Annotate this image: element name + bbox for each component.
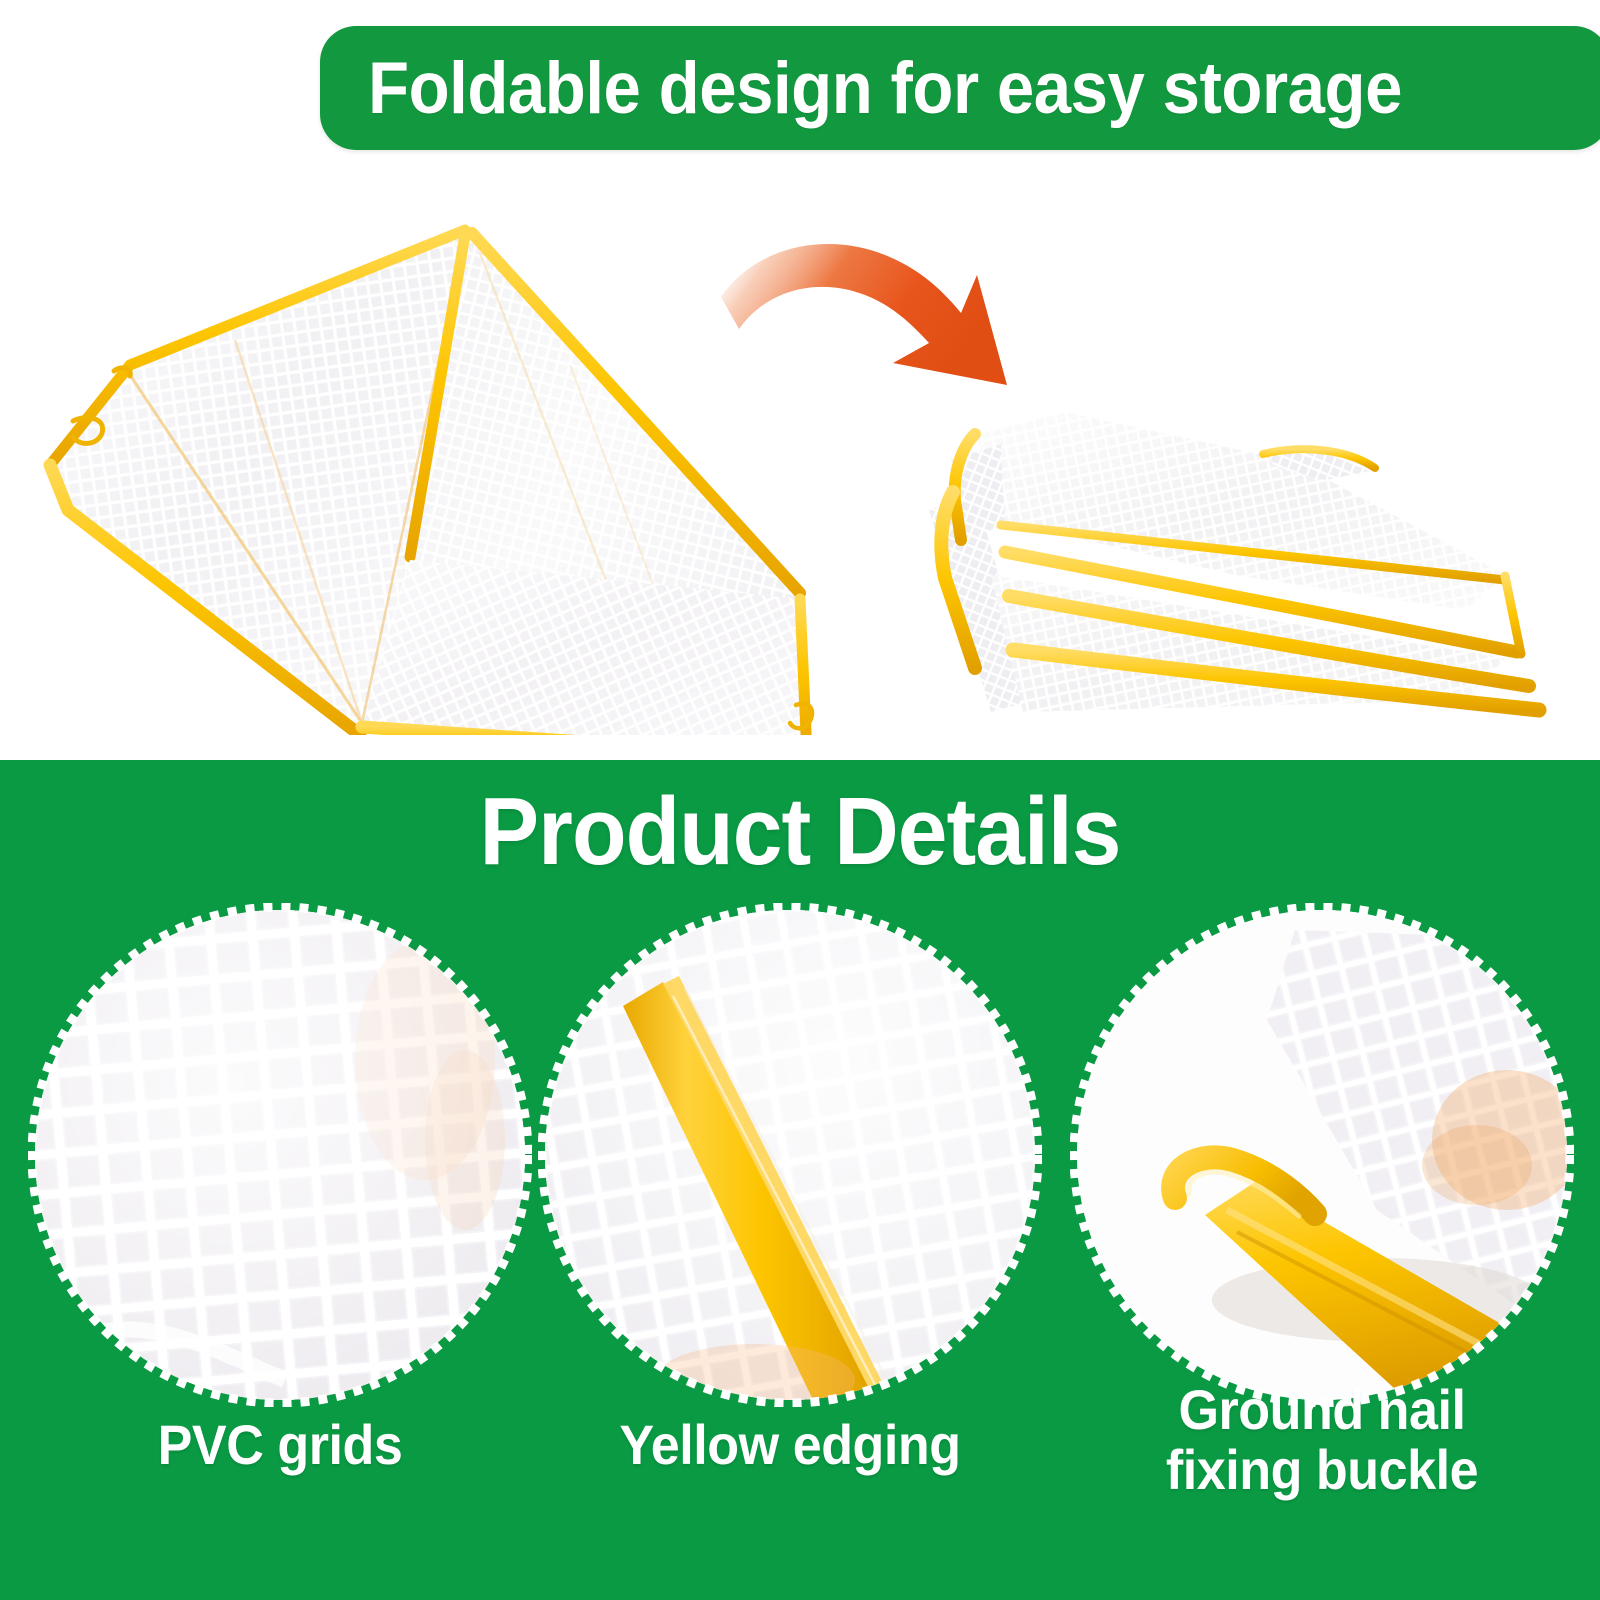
- curved-arrow-icon: [715, 225, 1045, 410]
- detail-item-pvc-grids: PVC grids: [20, 910, 540, 1600]
- headline-banner: Foldable design for easy storage: [320, 26, 1600, 150]
- detail-item-yellow-edging: Yellow edging: [530, 910, 1050, 1600]
- ground-nail-buckle-closeup-image: [1077, 910, 1567, 1400]
- yellow-edging-closeup-image: [545, 910, 1035, 1400]
- detail-caption-yellow-edging: Yellow edging: [548, 1415, 1032, 1475]
- detail-caption-line-2: fixing buckle: [1080, 1440, 1564, 1500]
- product-infographic: Foldable design for easy storage: [0, 0, 1600, 1600]
- product-details-heading: Product Details: [56, 784, 1544, 880]
- product-details-section: Product Details: [0, 760, 1600, 1600]
- pvc-tarp-unfolded-photo: [10, 175, 820, 735]
- detail-circle-wrapper: [545, 910, 1035, 1400]
- pvc-grid-closeup-image: [35, 910, 525, 1400]
- foldable-design-section: Foldable design for easy storage: [0, 0, 1600, 760]
- detail-circle-wrapper: [35, 910, 525, 1400]
- detail-caption-pvc-grids: PVC grids: [38, 1415, 522, 1475]
- detail-caption-ground-nail-buckle: Ground nail fixing buckle: [1080, 1380, 1564, 1501]
- pvc-tarp-folded-photo: [905, 400, 1600, 730]
- detail-item-ground-nail-buckle: Ground nail fixing buckle: [1062, 910, 1582, 1600]
- detail-caption-line-1: Ground nail: [1080, 1380, 1564, 1440]
- headline-text: Foldable design for easy storage: [368, 52, 1402, 125]
- detail-circle-wrapper: [1077, 910, 1567, 1400]
